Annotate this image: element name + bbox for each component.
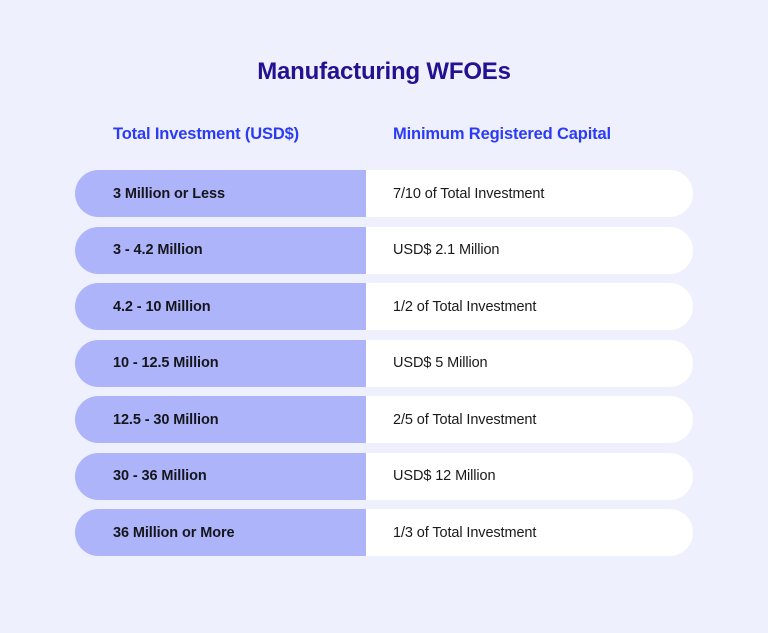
table-row: 30 - 36 Million USD$ 12 Million	[75, 453, 693, 500]
table-row: 12.5 - 30 Million 2/5 of Total Investmen…	[75, 396, 693, 443]
table-row: 3 Million or Less 7/10 of Total Investme…	[75, 170, 693, 217]
infographic-page: Manufacturing WFOEs Total Investment (US…	[0, 0, 768, 633]
cell-minimum-registered-capital: USD$ 2.1 Million	[366, 227, 693, 274]
cell-total-investment: 10 - 12.5 Million	[75, 340, 366, 387]
table-header-row: Total Investment (USD$) Minimum Register…	[75, 121, 693, 147]
investment-capital-table: 3 Million or Less 7/10 of Total Investme…	[75, 170, 693, 556]
cell-total-investment: 12.5 - 30 Million	[75, 396, 366, 443]
cell-total-investment: 30 - 36 Million	[75, 453, 366, 500]
cell-minimum-registered-capital: USD$ 5 Million	[366, 340, 693, 387]
cell-minimum-registered-capital: 1/3 of Total Investment	[366, 509, 693, 556]
cell-total-investment: 3 Million or Less	[75, 170, 366, 217]
cell-minimum-registered-capital: 2/5 of Total Investment	[366, 396, 693, 443]
cell-minimum-registered-capital: 1/2 of Total Investment	[366, 283, 693, 330]
cell-total-investment: 36 Million or More	[75, 509, 366, 556]
cell-minimum-registered-capital: USD$ 12 Million	[366, 453, 693, 500]
table-row: 4.2 - 10 Million 1/2 of Total Investment	[75, 283, 693, 330]
page-title: Manufacturing WFOEs	[0, 56, 768, 88]
cell-minimum-registered-capital: 7/10 of Total Investment	[366, 170, 693, 217]
cell-total-investment: 3 - 4.2 Million	[75, 227, 366, 274]
cell-total-investment: 4.2 - 10 Million	[75, 283, 366, 330]
table-row: 10 - 12.5 Million USD$ 5 Million	[75, 340, 693, 387]
table-row: 36 Million or More 1/3 of Total Investme…	[75, 509, 693, 556]
column-header-minimum-registered-capital: Minimum Registered Capital	[393, 121, 611, 147]
table-row: 3 - 4.2 Million USD$ 2.1 Million	[75, 227, 693, 274]
column-header-total-investment: Total Investment (USD$)	[113, 121, 299, 147]
